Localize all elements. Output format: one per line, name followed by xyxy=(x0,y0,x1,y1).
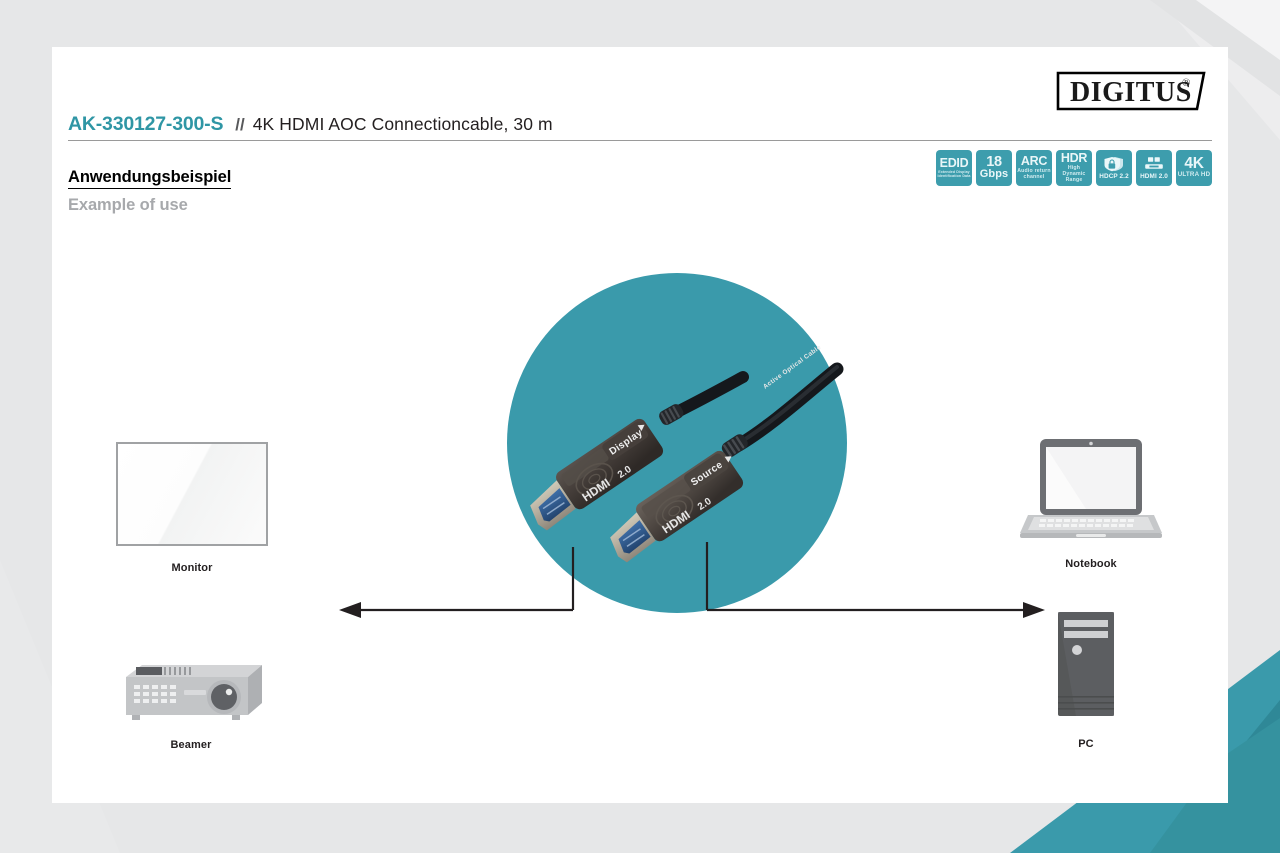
product-headline: AK-330127-300-S // 4K HDMI AOC Connectio… xyxy=(68,113,1212,141)
badge-edid: EDID Extended Display Identification Dat… xyxy=(936,150,972,186)
badge-hdcp-sub: HDCP 2.2 xyxy=(1099,173,1128,180)
section-heading: Anwendungsbeispiel Example of use xyxy=(68,168,231,215)
badge-hdr-label: HDR xyxy=(1061,152,1087,164)
device-notebook xyxy=(1020,435,1162,545)
device-beamer xyxy=(116,657,266,723)
badge-18gbps-sub: Gbps xyxy=(980,169,1009,180)
section-title-en: Example of use xyxy=(68,196,231,215)
badge-arc: ARC Audio return channel xyxy=(1016,150,1052,186)
logo-wordmark: DIGITUS xyxy=(1070,77,1192,108)
badge-arc-sub: Audio return channel xyxy=(1017,168,1051,180)
badge-arc-label: ARC xyxy=(1021,155,1047,167)
device-beamer-label: Beamer xyxy=(116,739,266,751)
badge-hdr-sub: High Dynamic Range xyxy=(1062,165,1085,183)
device-notebook-label: Notebook xyxy=(1020,558,1162,570)
section-title-de: Anwendungsbeispiel xyxy=(68,168,231,189)
logo-registered-mark: ® xyxy=(1182,77,1190,89)
illustration-stage: Active Optical Cable xyxy=(52,217,1228,803)
product-title: 4K HDMI AOC Connectioncable, 30 m xyxy=(253,114,553,135)
badge-4k-label: 4K xyxy=(1184,157,1203,171)
badge-hdmi20: HDMI 2.0 xyxy=(1136,150,1172,186)
badge-4k: 4K ULTRA HD xyxy=(1176,150,1212,186)
headline-rule xyxy=(68,140,1212,141)
badge-4k-sub: ULTRA HD xyxy=(1178,172,1211,178)
badge-hdcp: HDCP 2.2 xyxy=(1096,150,1132,186)
device-monitor xyxy=(116,442,268,546)
hdmi-connector-icon xyxy=(1143,156,1165,172)
device-monitor-label: Monitor xyxy=(116,562,268,574)
device-pc xyxy=(1054,610,1118,720)
feature-badges: EDID Extended Display Identification Dat… xyxy=(936,150,1212,186)
content-card: DIGITUS ® AK-330127-300-S // 4K HDMI AOC… xyxy=(52,47,1228,803)
badge-edid-sub: Extended Display Identification Data xyxy=(937,170,970,179)
headline-separator: // xyxy=(235,115,244,135)
badge-18gbps-label: 18 xyxy=(986,155,1002,169)
lock-shield-icon xyxy=(1103,156,1125,172)
badge-hdr: HDR High Dynamic Range xyxy=(1056,150,1092,186)
badge-hdmi20-sub: HDMI 2.0 xyxy=(1140,173,1168,180)
badge-edid-label: EDID xyxy=(940,157,969,169)
badge-18gbps: 18 Gbps xyxy=(976,150,1012,186)
digitus-logo: DIGITUS ® xyxy=(1054,67,1208,113)
product-sku: AK-330127-300-S xyxy=(68,113,223,136)
device-pc-label: PC xyxy=(1038,738,1134,750)
